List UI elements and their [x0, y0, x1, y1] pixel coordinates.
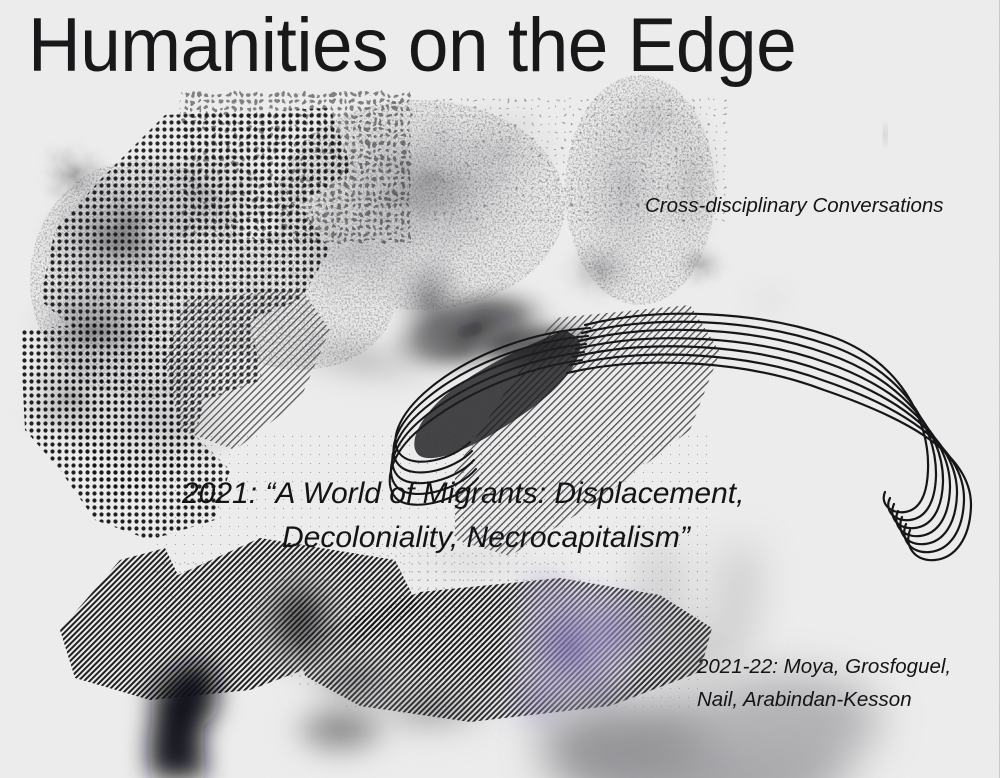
- theme-line-1: 2021: “A World of Migrants: Displacement…: [182, 477, 744, 510]
- credits-block: 2021-22: Moya, Grosfoguel, Nail, Arabind…: [697, 650, 997, 716]
- credits-line-2: Nail, Arabindan-Kesson: [697, 688, 912, 711]
- theme-block: 2021: “A World of Migrants: Displacement…: [182, 472, 822, 559]
- theme-line-2: Decoloniality, Necrocapitalism”: [182, 516, 822, 560]
- poster-canvas: Humanities on the Edge Cross-disciplinar…: [0, 0, 1000, 778]
- tagline: Cross-disciplinary Conversations: [645, 194, 944, 218]
- credits-line-1: 2021-22: Moya, Grosfoguel,: [697, 655, 951, 678]
- page-title: Humanities on the Edge: [28, 8, 796, 84]
